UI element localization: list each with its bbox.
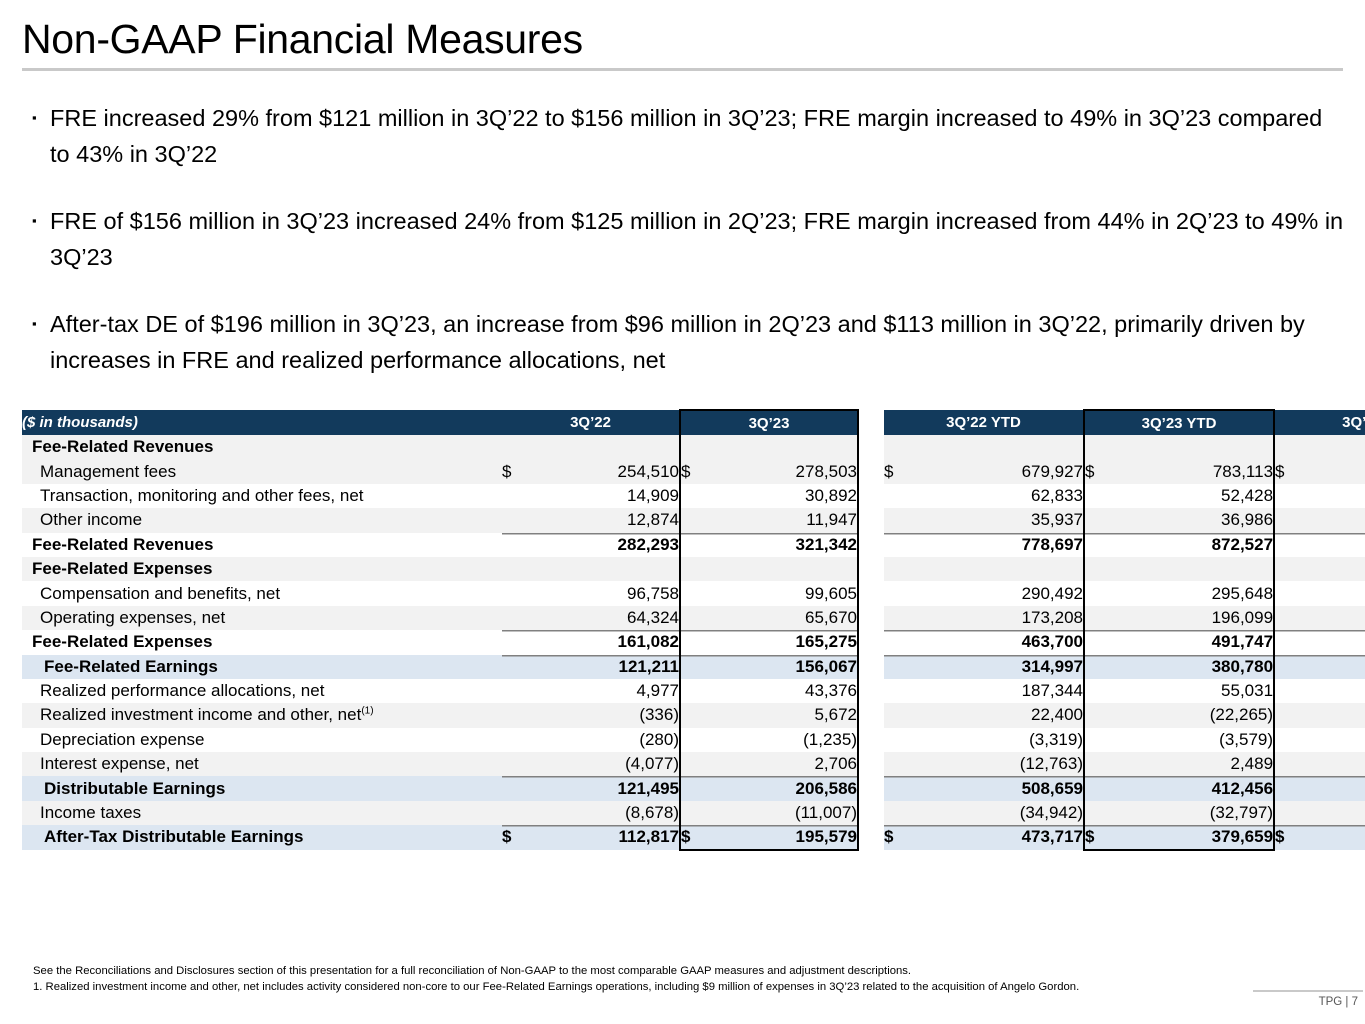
cell-value: 663,684 [1326, 776, 1365, 800]
table-row: After-Tax Distributable Earnings$112,817… [22, 825, 1365, 849]
currency-symbol-3 [1084, 581, 1126, 605]
currency-symbol-2 [884, 728, 936, 752]
table-row: Fee-Related Revenues282,293321,342778,69… [22, 533, 1365, 557]
row-label: Transaction, monitoring and other fees, … [22, 484, 502, 508]
currency-symbol-2 [884, 484, 936, 508]
row-label: Other income [22, 508, 502, 532]
cell-value: 519,634 [1326, 655, 1365, 679]
currency-symbol-2 [884, 752, 936, 776]
currency-symbol-3 [1084, 679, 1126, 703]
currency-symbol-0: $ [502, 825, 544, 849]
currency-symbol-0 [502, 776, 544, 800]
cell-value: 112,817 [544, 825, 680, 849]
cell-value: 30,892 [722, 484, 858, 508]
title-divider [22, 68, 1343, 71]
table-units-label: ($ in thousands) [22, 410, 502, 435]
cell-value: 398,124 [1326, 581, 1365, 605]
column-spacer [858, 484, 884, 508]
column-spacer [858, 630, 884, 654]
currency-symbol-0 [502, 679, 544, 703]
cell-value: 206,586 [722, 776, 858, 800]
currency-symbol-4 [1274, 435, 1326, 459]
cell-value: 1,179,836 [1326, 533, 1365, 557]
cell-value: (2,627) [1326, 703, 1365, 727]
cell-value: 121,211 [544, 655, 680, 679]
row-label: Realized investment income and other, ne… [22, 703, 502, 727]
cell-value: 11,947 [722, 508, 858, 532]
currency-symbol-3 [1084, 776, 1126, 800]
cell-value: 196,099 [1126, 606, 1274, 630]
column-spacer [858, 508, 884, 532]
column-header-2: 3Q’22 YTD [884, 410, 1084, 435]
cell-value: 463,700 [936, 630, 1084, 654]
row-label: Management fees [22, 459, 502, 483]
currency-symbol-3 [1084, 703, 1126, 727]
currency-symbol-1 [680, 533, 722, 557]
cell-value: (22,265) [1126, 703, 1274, 727]
row-label: Fee-Related Revenues [22, 435, 502, 459]
currency-symbol-2: $ [884, 825, 936, 849]
table-row: Realized performance allocations, net4,9… [22, 679, 1365, 703]
cell-value: 96,758 [544, 581, 680, 605]
cell-value: 783,113 [1126, 459, 1274, 483]
currency-symbol-0 [502, 581, 544, 605]
cell-value: 5,672 [722, 703, 858, 727]
cell-value: 150,070 [1326, 679, 1365, 703]
bullet-square-icon: ▪ [26, 100, 50, 136]
cell-value: 380,780 [1126, 655, 1274, 679]
currency-symbol-4 [1274, 679, 1326, 703]
column-header-4: 3Q’23 LTM [1274, 410, 1365, 435]
cell-value: (3,319) [936, 728, 1084, 752]
column-spacer [858, 728, 884, 752]
slide-root: Non-GAAP Financial Measures ▪ FRE increa… [0, 0, 1365, 1024]
table-row: Depreciation expense(280)(1,235)(3,319)(… [22, 728, 1365, 752]
column-spacer [858, 435, 884, 459]
currency-symbol-4 [1274, 703, 1326, 727]
currency-symbol-1 [680, 728, 722, 752]
currency-symbol-1 [680, 801, 722, 825]
cell-value: 43,376 [722, 679, 858, 703]
currency-symbol-1 [680, 484, 722, 508]
row-label: Fee-Related Expenses [22, 630, 502, 654]
table-row: Interest expense, net(4,077)2,706(12,763… [22, 752, 1365, 776]
currency-symbol-2 [884, 630, 936, 654]
cell-value: 22,400 [936, 703, 1084, 727]
column-header-0: 3Q’22 [502, 410, 680, 435]
currency-symbol-4 [1274, 728, 1326, 752]
currency-symbol-1: $ [680, 825, 722, 849]
cell-value [1326, 435, 1365, 459]
cell-value [1326, 557, 1365, 581]
cell-value: 679,927 [936, 459, 1084, 483]
table-row: Fee-Related Revenues [22, 435, 1365, 459]
cell-value [936, 435, 1084, 459]
table-row: Other income12,87411,94735,93736,98648,1… [22, 508, 1365, 532]
currency-symbol-3 [1084, 801, 1126, 825]
column-spacer [858, 703, 884, 727]
currency-symbol-3: $ [1084, 459, 1126, 483]
currency-symbol-2 [884, 606, 936, 630]
cell-value: 14,909 [544, 484, 680, 508]
cell-value: 156,067 [722, 655, 858, 679]
column-spacer [858, 655, 884, 679]
page-title: Non-GAAP Financial Measures [22, 14, 1343, 64]
cell-value: 48,117 [1326, 508, 1365, 532]
currency-symbol-4 [1274, 752, 1326, 776]
cell-value: 1,456 [1326, 752, 1365, 776]
currency-symbol-3 [1084, 728, 1126, 752]
column-spacer [858, 581, 884, 605]
cell-value [722, 557, 858, 581]
cell-value [1126, 435, 1274, 459]
currency-symbol-0 [502, 533, 544, 557]
column-spacer [858, 606, 884, 630]
row-label: Fee-Related Expenses [22, 557, 502, 581]
bullet-square-icon: ▪ [26, 306, 50, 342]
cell-value: 606,207 [1326, 825, 1365, 849]
cell-value: 161,082 [544, 630, 680, 654]
currency-symbol-2 [884, 581, 936, 605]
cell-value: 872,527 [1126, 533, 1274, 557]
currency-symbol-2: $ [884, 459, 936, 483]
financial-table: ($ in thousands)3Q’223Q’233Q’22 YTD3Q’23… [22, 409, 1365, 851]
currency-symbol-2 [884, 801, 936, 825]
currency-symbol-4 [1274, 655, 1326, 679]
list-item: ▪ After-tax DE of $196 million in 3Q’23,… [26, 306, 1346, 378]
column-spacer [858, 752, 884, 776]
currency-symbol-0 [502, 435, 544, 459]
cell-value: 321,342 [722, 533, 858, 557]
currency-symbol-4 [1274, 557, 1326, 581]
cell-value: 295,648 [1126, 581, 1274, 605]
currency-symbol-0 [502, 606, 544, 630]
bullet-list: ▪ FRE increased 29% from $121 million in… [26, 100, 1346, 409]
currency-symbol-3 [1084, 508, 1126, 532]
currency-symbol-1 [680, 435, 722, 459]
cell-value: 36,986 [1126, 508, 1274, 532]
currency-symbol-4 [1274, 606, 1326, 630]
cell-value: 173,208 [936, 606, 1084, 630]
currency-symbol-0 [502, 655, 544, 679]
cell-value: 52,428 [1126, 484, 1274, 508]
table-row: Fee-Related Expenses [22, 557, 1365, 581]
currency-symbol-3: $ [1084, 825, 1126, 849]
currency-symbol-2 [884, 703, 936, 727]
currency-symbol-4 [1274, 508, 1326, 532]
cell-value: 187,344 [936, 679, 1084, 703]
table-row: Compensation and benefits, net96,75899,6… [22, 581, 1365, 605]
cell-value: 778,697 [936, 533, 1084, 557]
currency-symbol-1 [680, 776, 722, 800]
currency-symbol-3 [1084, 557, 1126, 581]
row-label: Operating expenses, net [22, 606, 502, 630]
row-label: Income taxes [22, 801, 502, 825]
row-label: Fee-Related Earnings [22, 655, 502, 679]
currency-symbol-2 [884, 533, 936, 557]
row-label: Realized performance allocations, net [22, 679, 502, 703]
cell-value: 62,833 [936, 484, 1084, 508]
page-divider [1253, 990, 1363, 992]
cell-value [936, 557, 1084, 581]
cell-value: (11,007) [722, 801, 858, 825]
currency-symbol-3 [1084, 435, 1126, 459]
cell-value: 195,579 [722, 825, 858, 849]
footnotes: See the Reconciliations and Disclosures … [33, 963, 1333, 995]
cell-value: 12,874 [544, 508, 680, 532]
cell-value: (3,579) [1126, 728, 1274, 752]
footnote-1: 1. Realized investment income and other,… [33, 979, 1333, 995]
table-row: Fee-Related Earnings121,211156,067314,99… [22, 655, 1365, 679]
cell-value [544, 435, 680, 459]
currency-symbol-4: $ [1274, 825, 1326, 849]
currency-symbol-2 [884, 508, 936, 532]
row-label: Interest expense, net [22, 752, 502, 776]
currency-symbol-4 [1274, 581, 1326, 605]
currency-symbol-4 [1274, 630, 1326, 654]
bullet-text: After-tax DE of $196 million in 3Q’23, a… [50, 306, 1346, 378]
currency-symbol-0 [502, 557, 544, 581]
cell-value: 2,706 [722, 752, 858, 776]
currency-symbol-1 [680, 655, 722, 679]
column-spacer [858, 679, 884, 703]
currency-symbol-2 [884, 776, 936, 800]
column-spacer [858, 533, 884, 557]
table-body: ($ in thousands)3Q’223Q’233Q’22 YTD3Q’23… [22, 410, 1365, 850]
row-label: Depreciation expense [22, 728, 502, 752]
cell-value: 2,489 [1126, 752, 1274, 776]
cell-value: 64,324 [544, 606, 680, 630]
column-header-3: 3Q’23 YTD [1084, 410, 1274, 435]
bullet-text: FRE of $156 million in 3Q’23 increased 2… [50, 203, 1346, 275]
cell-value: 262,080 [1326, 606, 1365, 630]
currency-symbol-2 [884, 557, 936, 581]
cell-value: (12,763) [936, 752, 1084, 776]
cell-value [1126, 557, 1274, 581]
cell-value: (336) [544, 703, 680, 727]
column-header-1: 3Q’23 [680, 410, 858, 435]
cell-value: 1,033,046 [1326, 459, 1365, 483]
cell-value: 65,670 [722, 606, 858, 630]
table-row: Income taxes(8,678)(11,007)(34,942)(32,7… [22, 801, 1365, 825]
currency-symbol-0 [502, 728, 544, 752]
cell-value: (32,797) [1126, 801, 1274, 825]
currency-symbol-1 [680, 557, 722, 581]
cell-value: 660,204 [1326, 630, 1365, 654]
currency-symbol-0 [502, 703, 544, 727]
row-label: After-Tax Distributable Earnings [22, 825, 502, 849]
currency-symbol-2 [884, 679, 936, 703]
currency-symbol-1 [680, 703, 722, 727]
currency-symbol-1: $ [680, 459, 722, 483]
page-number: TPG | 7 [1253, 996, 1358, 1008]
cell-value: 282,293 [544, 533, 680, 557]
currency-symbol-0 [502, 484, 544, 508]
currency-symbol-0 [502, 752, 544, 776]
cell-value: 4,977 [544, 679, 680, 703]
column-spacer [858, 825, 884, 849]
row-label: Fee-Related Revenues [22, 533, 502, 557]
table-row: Distributable Earnings121,495206,586508,… [22, 776, 1365, 800]
cell-value: 98,673 [1326, 484, 1365, 508]
currency-symbol-2 [884, 435, 936, 459]
currency-symbol-1 [680, 581, 722, 605]
cell-value: 290,492 [936, 581, 1084, 605]
currency-symbol-0 [502, 801, 544, 825]
currency-symbol-4 [1274, 533, 1326, 557]
cell-value: 491,747 [1126, 630, 1274, 654]
cell-value: (1,235) [722, 728, 858, 752]
bullet-text: FRE increased 29% from $121 million in 3… [50, 100, 1346, 172]
cell-value: 165,275 [722, 630, 858, 654]
row-label: Distributable Earnings [22, 776, 502, 800]
cell-value: 379,659 [1126, 825, 1274, 849]
currency-symbol-1 [680, 606, 722, 630]
cell-value: 55,031 [1126, 679, 1274, 703]
column-spacer [858, 776, 884, 800]
currency-symbol-1 [680, 752, 722, 776]
list-item: ▪ FRE increased 29% from $121 million in… [26, 100, 1346, 172]
column-spacer [858, 801, 884, 825]
table-row: Transaction, monitoring and other fees, … [22, 484, 1365, 508]
currency-symbol-3 [1084, 606, 1126, 630]
cell-value: (4,077) [544, 752, 680, 776]
header-spacer [858, 410, 884, 435]
currency-symbol-1 [680, 508, 722, 532]
table-header-row: ($ in thousands)3Q’223Q’233Q’22 YTD3Q’23… [22, 410, 1365, 435]
cell-value: 254,510 [544, 459, 680, 483]
footnote-marker: (1) [361, 706, 373, 717]
currency-symbol-4: $ [1274, 459, 1326, 483]
currency-symbol-1 [680, 679, 722, 703]
cell-value: (57,478) [1326, 801, 1365, 825]
currency-symbol-0 [502, 630, 544, 654]
currency-symbol-0 [502, 508, 544, 532]
cell-value: 278,503 [722, 459, 858, 483]
cell-value [544, 557, 680, 581]
cell-value: 35,937 [936, 508, 1084, 532]
cell-value: 473,717 [936, 825, 1084, 849]
cell-value: 121,495 [544, 776, 680, 800]
currency-symbol-1 [680, 630, 722, 654]
cell-value: 99,605 [722, 581, 858, 605]
currency-symbol-0: $ [502, 459, 544, 483]
footnote-general: See the Reconciliations and Disclosures … [33, 963, 1333, 979]
currency-symbol-3 [1084, 533, 1126, 557]
table-row: Fee-Related Expenses161,082165,275463,70… [22, 630, 1365, 654]
currency-symbol-2 [884, 655, 936, 679]
cell-value: (8,678) [544, 801, 680, 825]
column-spacer [858, 557, 884, 581]
currency-symbol-4 [1274, 776, 1326, 800]
cell-value: 508,659 [936, 776, 1084, 800]
currency-symbol-3 [1084, 630, 1126, 654]
currency-symbol-3 [1084, 484, 1126, 508]
cell-value: (280) [544, 728, 680, 752]
bullet-square-icon: ▪ [26, 203, 50, 239]
cell-value: 314,997 [936, 655, 1084, 679]
cell-value: (34,942) [936, 801, 1084, 825]
financial-table-wrap: ($ in thousands)3Q’223Q’233Q’22 YTD3Q’23… [22, 409, 1343, 851]
currency-symbol-3 [1084, 752, 1126, 776]
title-block: Non-GAAP Financial Measures [22, 14, 1343, 71]
currency-symbol-4 [1274, 484, 1326, 508]
currency-symbol-4 [1274, 801, 1326, 825]
list-item: ▪ FRE of $156 million in 3Q’23 increased… [26, 203, 1346, 275]
table-row: Realized investment income and other, ne… [22, 703, 1365, 727]
currency-symbol-3 [1084, 655, 1126, 679]
table-row: Management fees$254,510$278,503$679,927$… [22, 459, 1365, 483]
cell-value: 412,456 [1126, 776, 1274, 800]
table-row: Operating expenses, net64,32465,670173,2… [22, 606, 1365, 630]
cell-value: (4,849) [1326, 728, 1365, 752]
row-label: Compensation and benefits, net [22, 581, 502, 605]
cell-value [722, 435, 858, 459]
column-spacer [858, 459, 884, 483]
